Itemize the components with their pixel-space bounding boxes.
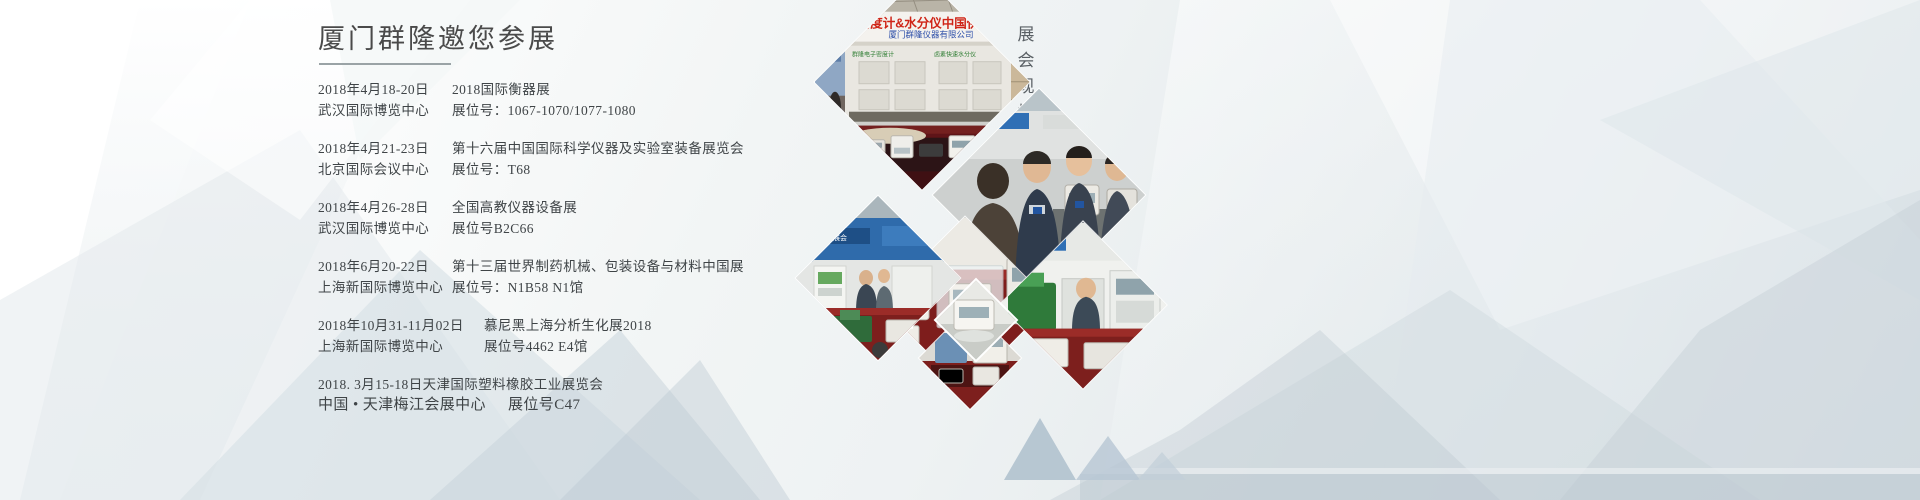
event-row-date: 2018年10月31-11月02日 慕尼黑上海分析生化展2018 (318, 315, 878, 336)
event-name: 第十六届中国国际科学仪器及实验室装备展览会 (444, 138, 744, 159)
event-row-venue: 北京国际会议中心 展位号：T68 (318, 159, 878, 180)
event-date: 2018年4月21-23日 (318, 138, 444, 159)
event-row-venue: 中国 • 天津梅江会展中心 展位号C47 (318, 395, 878, 416)
event-entry-6: 2018. 3月15-18日 天津国际塑料橡胶工业展览会 中国 • 天津梅江会展… (318, 374, 878, 416)
svg-text:群隆电子密度计: 群隆电子密度计 (851, 50, 893, 58)
event-date: 2018. 3月15-18日 (318, 374, 423, 395)
event-venue: 上海新国际博览中心 (318, 336, 476, 357)
event-venue: 上海新国际博览中心 (318, 277, 444, 298)
event-row-venue: 武汉国际博览中心 展位号B2C66 (318, 218, 878, 239)
event-booth: 展位号4462 E4馆 (476, 336, 588, 357)
event-venue: 中国 • 天津梅江会展中心 (318, 395, 500, 416)
svg-text:密度计&水分仪中国供应商: 密度计&水分仪中国供应商 (856, 15, 1004, 30)
event-row-date: 2018年6月20-22日 第十三届世界制药机械、包装设备与材料中国展 (318, 256, 878, 277)
page-title: 厦门群隆邀您参展 (318, 22, 878, 57)
event-booth: 展位号：T68 (444, 159, 531, 180)
event-date: 2018年6月20-22日 (318, 256, 444, 277)
event-date: 2018年10月31-11月02日 (318, 315, 476, 336)
event-entry-4: 2018年6月20-22日 第十三届世界制药机械、包装设备与材料中国展 上海新国… (318, 256, 878, 298)
event-row-date: 2018年4月18-20日 2018国际衡器展 (318, 79, 878, 100)
event-row-date: 2018. 3月15-18日 天津国际塑料橡胶工业展览会 (318, 374, 878, 395)
event-row-date: 2018年4月26-28日 全国高教仪器设备展 (318, 197, 878, 218)
event-entry-2: 2018年4月21-23日 第十六届中国国际科学仪器及实验室装备展览会 北京国际… (318, 138, 878, 180)
event-entry-1: 2018年4月18-20日 2018国际衡器展 武汉国际博览中心 展位号：106… (318, 79, 878, 121)
event-name: 慕尼黑上海分析生化展2018 (476, 315, 652, 336)
event-date: 2018年4月18-20日 (318, 79, 444, 100)
event-name: 全国高教仪器设备展 (444, 197, 577, 218)
event-booth: 展位号：N1B58 N1馆 (444, 277, 584, 298)
event-venue: 武汉国际博览中心 (318, 218, 444, 239)
photo-collage: 密度计&水分仪中国供应商 厦门群隆仪器有限公司 群隆电子密度计 卤素快速水分仪 (828, 0, 1248, 462)
svg-text:展会: 展会 (833, 233, 847, 242)
event-venue: 北京国际会议中心 (318, 159, 444, 180)
svg-text:厦门群隆仪器有限公司: 厦门群隆仪器有限公司 (888, 29, 973, 39)
event-entry-5: 2018年10月31-11月02日 慕尼黑上海分析生化展2018 上海新国际博览… (318, 315, 878, 357)
event-row-venue: 上海新国际博览中心 展位号：N1B58 N1馆 (318, 277, 878, 298)
event-booth: 展位号：1067-1070/1077-1080 (444, 100, 636, 121)
event-row-venue: 上海新国际博览中心 展位号4462 E4馆 (318, 336, 878, 357)
event-name: 2018国际衡器展 (444, 79, 550, 100)
event-venue: 武汉国际博览中心 (318, 100, 444, 121)
event-name: 第十三届世界制药机械、包装设备与材料中国展 (444, 256, 744, 277)
svg-text:卤素快速水分仪: 卤素快速水分仪 (933, 50, 975, 58)
exhibition-banner: 厦门群隆邀您参展 2018年4月18-20日 2018国际衡器展 武汉国际博览中… (0, 0, 1920, 500)
event-booth: 展位号B2C66 (444, 218, 534, 239)
event-row-date: 2018年4月21-23日 第十六届中国国际科学仪器及实验室装备展览会 (318, 138, 878, 159)
event-row-venue: 武汉国际博览中心 展位号：1067-1070/1077-1080 (318, 100, 878, 121)
title-underline (319, 63, 451, 65)
invitation-text-block: 厦门群隆邀您参展 2018年4月18-20日 2018国际衡器展 武汉国际博览中… (318, 22, 878, 416)
event-name: 天津国际塑料橡胶工业展览会 (423, 374, 604, 395)
event-booth: 展位号C47 (500, 395, 580, 416)
event-date: 2018年4月26-28日 (318, 197, 444, 218)
event-entry-3: 2018年4月26-28日 全国高教仪器设备展 武汉国际博览中心 展位号B2C6… (318, 197, 878, 239)
